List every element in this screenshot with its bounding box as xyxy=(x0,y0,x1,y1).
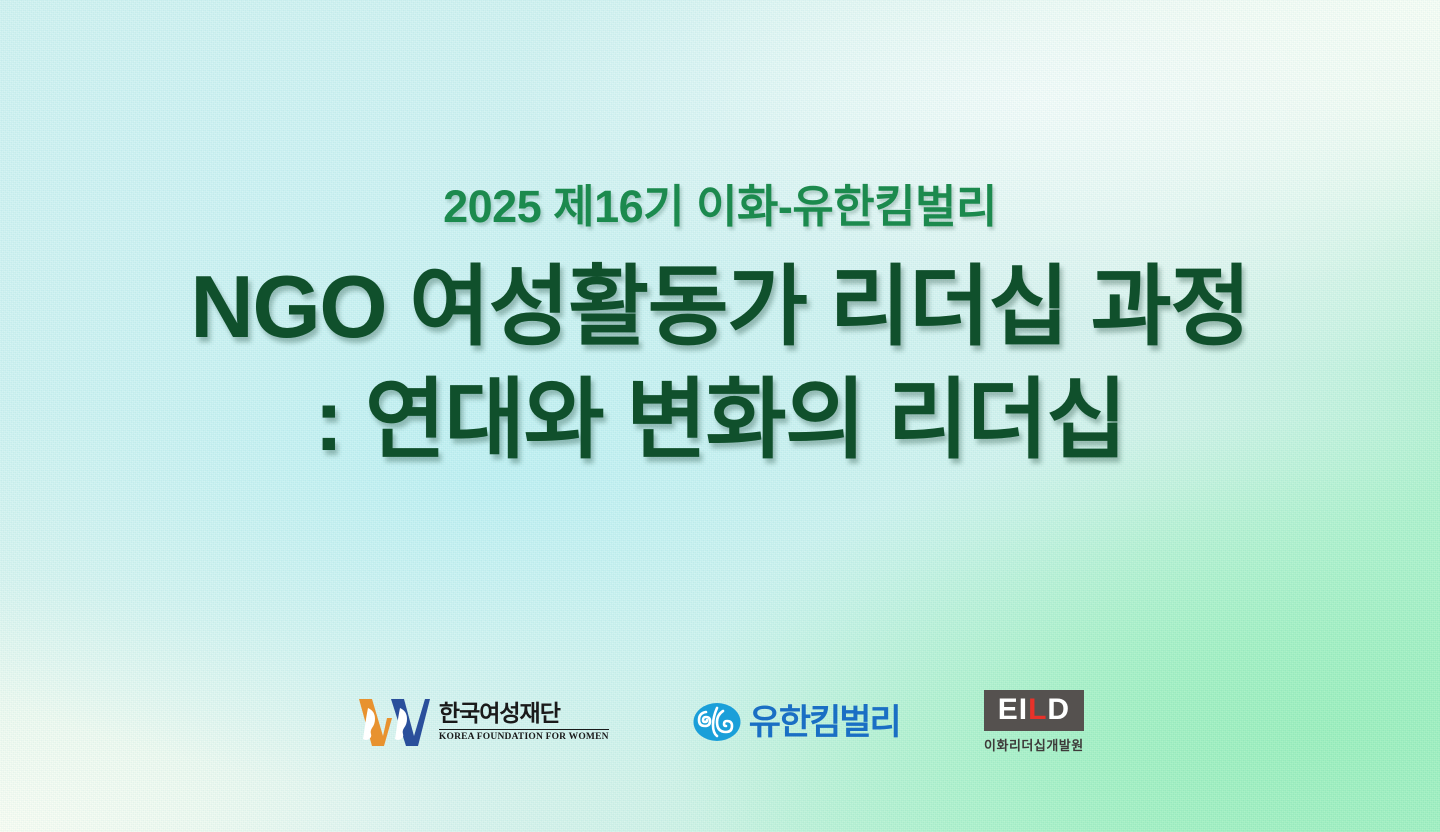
slide-title: NGO 여성활동가 리더십 과정 : 연대와 변화의 리더십 xyxy=(190,251,1249,476)
kfw-name-ko: 한국여성재단 xyxy=(439,702,560,726)
eild-letter-d: D xyxy=(1047,695,1070,725)
slide-eyebrow: 2025 제16기 이화-유한킴벌리 xyxy=(443,170,997,235)
eild-letter-e: E xyxy=(998,695,1019,725)
sponsor-logo-row: 한국여성재단 KOREA FOUNDATION FOR WOMEN 유한킴벌리 … xyxy=(0,683,1440,761)
slide-title-line-2: : 연대와 변화의 리더십 xyxy=(190,364,1249,477)
eild-letter-box: E I L D xyxy=(984,690,1084,731)
presentation-slide: 2025 제16기 이화-유한킴벌리 NGO 여성활동가 리더십 과정 : 연대… xyxy=(0,0,1440,832)
kfw-name-en: KOREA FOUNDATION FOR WOMEN xyxy=(439,729,609,742)
logo-ewha-leadership-development-institute: E I L D 이화리더십개발원 xyxy=(984,690,1084,754)
eild-name-ko: 이화리더십개발원 xyxy=(984,735,1084,754)
eild-letter-i: I xyxy=(1019,695,1028,725)
kfw-text-lockup: 한국여성재단 KOREA FOUNDATION FOR WOMEN xyxy=(439,702,609,741)
eild-letter-l: L xyxy=(1028,695,1047,725)
kfw-w-faces-icon xyxy=(356,696,430,748)
yuhan-kimberly-oval-icon xyxy=(693,702,741,742)
logo-yuhan-kimberly: 유한킴벌리 xyxy=(693,702,900,742)
logo-korea-foundation-for-women: 한국여성재단 KOREA FOUNDATION FOR WOMEN xyxy=(356,696,609,748)
yuhan-kimberly-wordmark: 유한킴벌리 xyxy=(749,705,900,740)
slide-title-line-1: NGO 여성활동가 리더십 과정 xyxy=(190,251,1249,364)
